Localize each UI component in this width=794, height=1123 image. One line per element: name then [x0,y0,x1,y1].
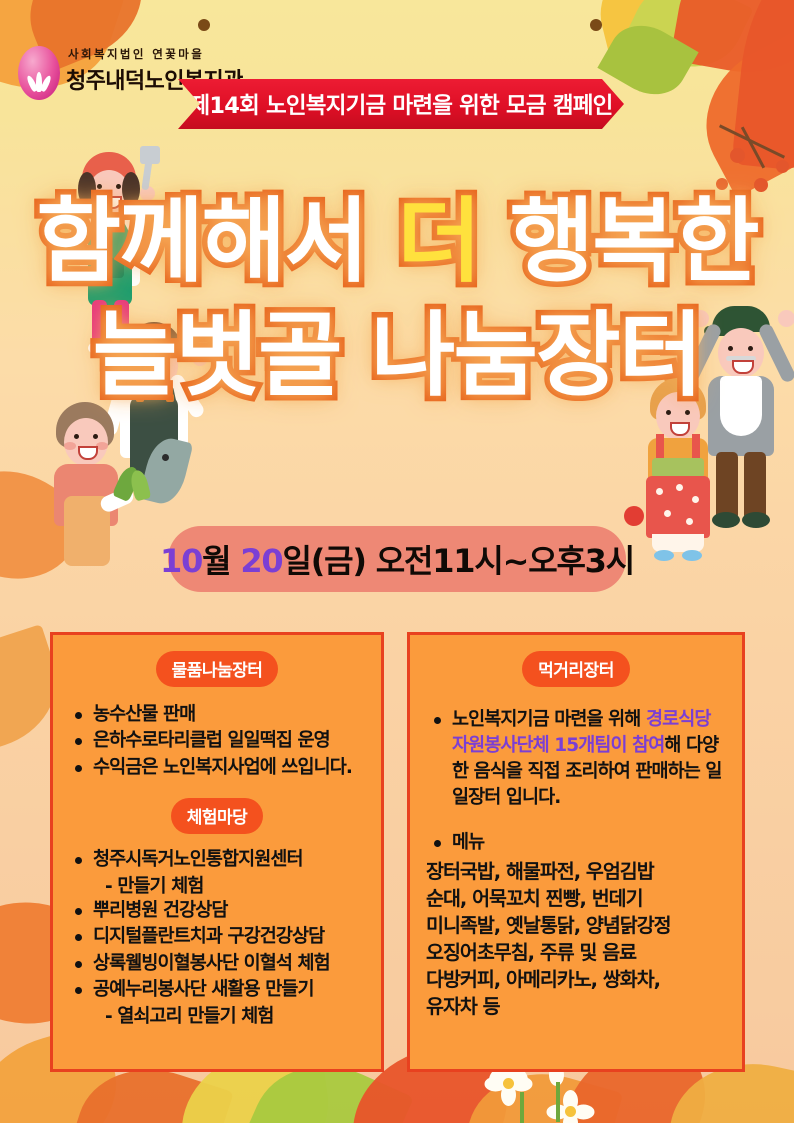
title-line1-part-a: 함께해서 [36,188,397,295]
list-item: 수익금은 노인복지사업에 쓰입니다. [67,756,367,780]
menu-list: 장터국밥, 해물파전, 우엄김밥 순대, 어묵꼬치 찐빵, 번데기 미니족발, … [426,859,726,1020]
badge-food-market: 먹거리장터 [522,651,630,687]
title-line-2: 늘벗골 나눔장터 [0,310,794,402]
list-item: 은하수로타리클럽 일일떡집 운영 [67,729,367,753]
food-market-description: 노인복지기금 마련을 위해 경로식당 자원봉사단체 15개팀이 참여해 다양한 … [426,707,726,811]
date-day-number: 20 [240,542,282,580]
decor-flower-3 [548,1090,594,1123]
menu-label: 메뉴 [426,831,726,855]
list-item: 청주시독거노인통합지원센터 [67,848,367,872]
character-elderly-woman-with-radish [38,400,148,570]
logo-subtitle: 사회복지법인 연꽃마을 [68,46,204,62]
right-info-box: 먹거리장터 노인복지기금 마련을 위해 경로식당 자원봉사단체 15개팀이 참여… [407,632,745,1072]
list-item: 공예누리봉사단 새활용 만들기 [67,978,367,1002]
menu-line: 유자차 등 [426,994,726,1021]
list-item-sub: - 만들기 체험 [67,875,367,899]
description-part-a: 노인복지기금 마련을 위해 [452,709,646,730]
goods-market-list: 농수산물 판매 은하수로타리클럽 일일떡집 운영 수익금은 노인복지사업에 쓰입… [67,703,367,780]
list-item: 디지털플란트치과 구강건강상담 [67,925,367,949]
campaign-ribbon-banner: 제14회 노인복지기금 마련을 위한 모금 캠페인 [178,79,624,129]
date-rest-text: 일(금) 오전11시~오후3시 [282,542,634,580]
menu-line: 미니족발, 옛날통닭, 양념닭강정 [426,913,726,940]
title-line-1: 함께해서 더 행복한 [0,196,794,288]
badge-experience-yard: 체험마당 [171,798,264,834]
decor-flower-stem [520,1092,524,1123]
poster-root: 사회복지법인 연꽃마을 청주내덕노인복지관 제14회 노인복지기금 마련을 위한… [0,0,794,1123]
list-item: 농수산물 판매 [67,703,367,727]
event-date-banner: 10월 20일(금) 오전11시~오후3시 [168,526,626,592]
ribbon-dot-right-icon [590,19,602,31]
ribbon-dot-left-icon [198,19,210,31]
title-highlight-word: 더 [397,188,480,295]
date-month-label: 월 [202,542,240,580]
list-item-sub: - 열쇠고리 만들기 체험 [67,1005,367,1029]
menu-line: 오징어초무침, 주류 및 음료 [426,940,726,967]
title-line1-part-b: 행복한 [480,188,758,295]
organization-logo: 사회복지법인 연꽃마을 청주내덕노인복지관 [14,40,204,106]
list-item: 뿌리병원 건강상담 [67,899,367,923]
menu-line: 다방커피, 아메리카노, 쌍화차, [426,967,726,994]
experience-yard-list: 청주시독거노인통합지원센터 - 만들기 체험 뿌리병원 건강상담 디지털플란트치… [67,848,367,1029]
event-date-text: 10월 20일(금) 오전11시~오후3시 [160,536,634,582]
menu-line: 순대, 어묵꼬치 찐빵, 번데기 [426,886,726,913]
date-month-number: 10 [160,542,202,580]
menu-heading-list: 메뉴 [426,831,726,855]
menu-line: 장터국밥, 해물파전, 우엄김밥 [426,859,726,886]
campaign-ribbon-text: 제14회 노인복지기금 마련을 위한 모금 캠페인 [189,88,612,120]
list-item: 상록웰빙이혈봉사단 이혈석 체험 [67,952,367,976]
left-info-box: 물품나눔장터 농수산물 판매 은하수로타리클럽 일일떡집 운영 수익금은 노인복… [50,632,384,1072]
lotus-petals-icon [28,70,50,92]
decor-flower-stem-2 [556,1082,560,1122]
poster-title: 함께해서 더 행복한 늘벗골 나눔장터 [0,196,794,402]
badge-goods-market: 물품나눔장터 [156,651,279,687]
